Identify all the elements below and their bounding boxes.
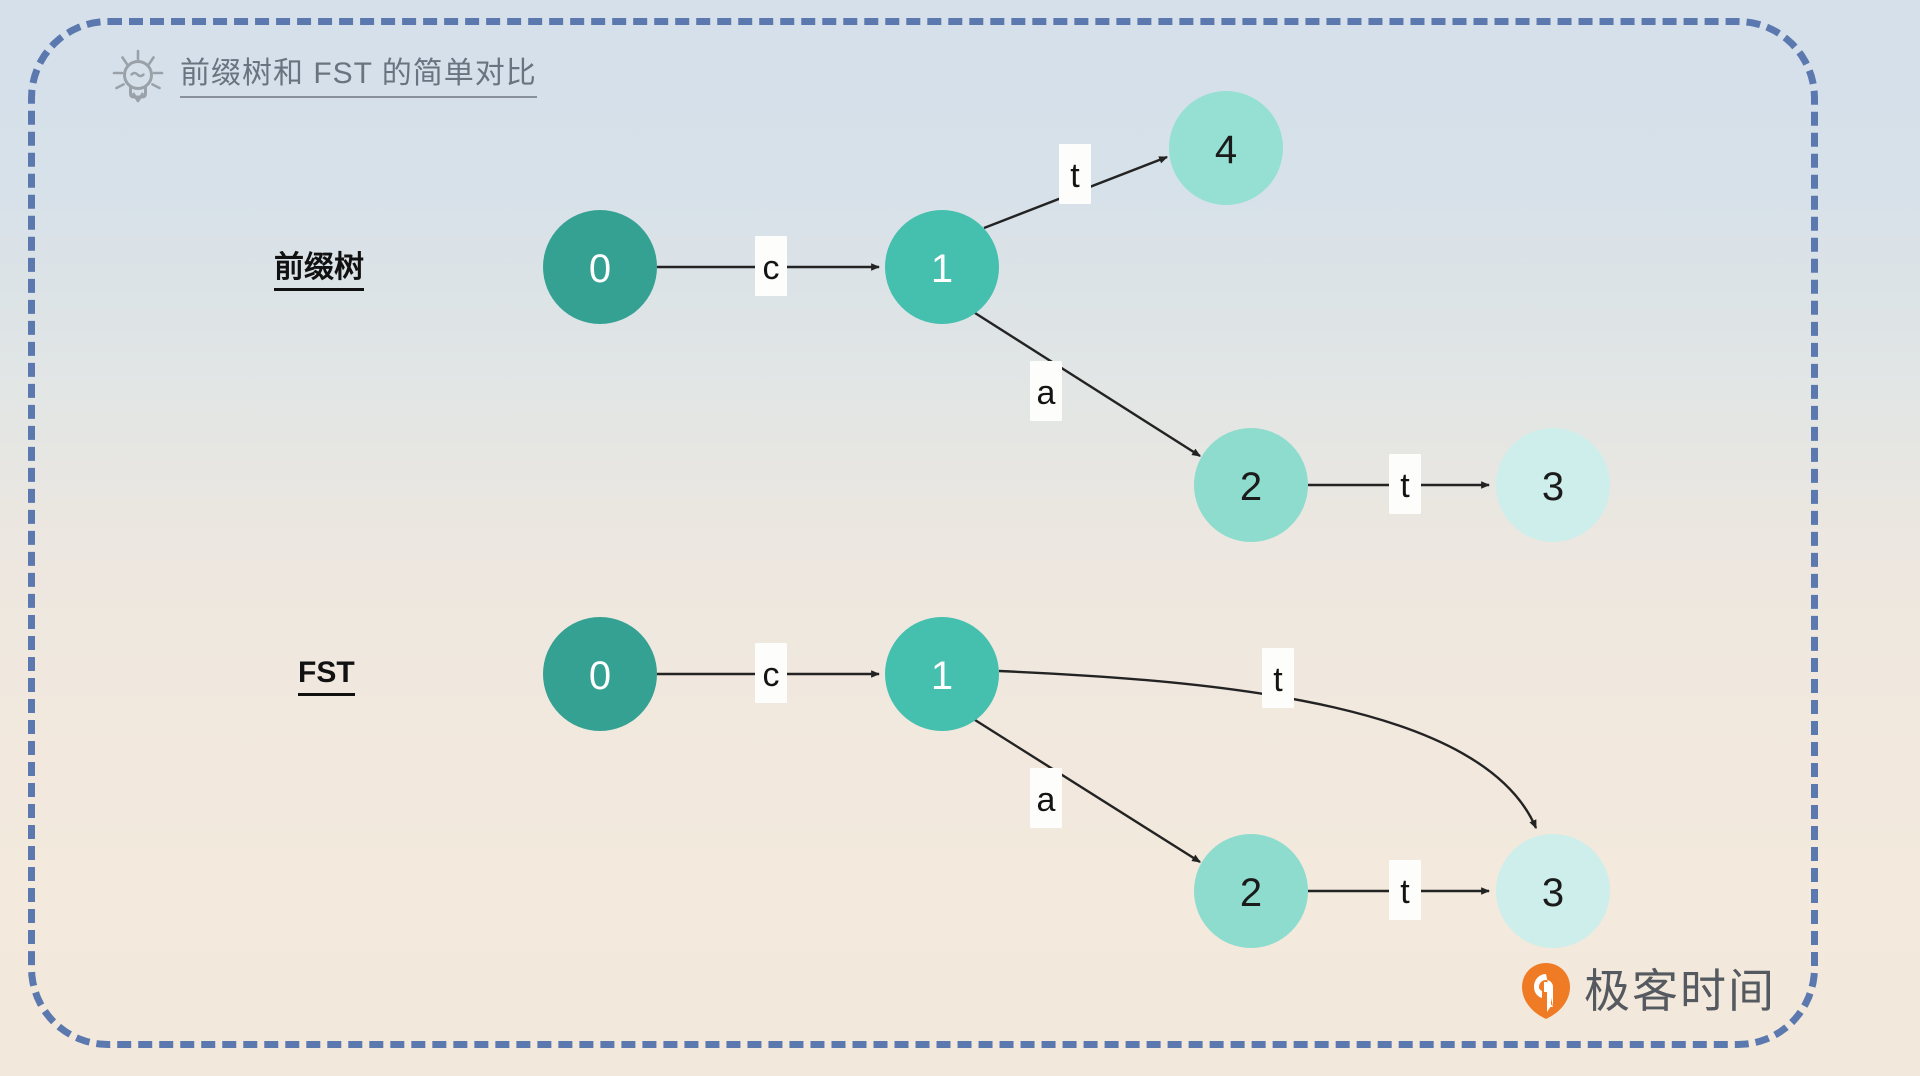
trie-node-3-label: 3 xyxy=(1542,465,1564,509)
diagram-canvas: 前缀树和 FST 的简单对比 前缀树 FST c xyxy=(0,0,1920,1076)
brand-logo-text: 极客时间 xyxy=(1584,968,1776,1014)
fst-node-0-label: 0 xyxy=(589,654,611,698)
trie-edge-label-a: a xyxy=(1030,361,1062,421)
fst-edge-label-t1-text: t xyxy=(1273,661,1283,699)
fst-edge-label-a-text: a xyxy=(1037,781,1056,819)
trie-node-0[interactable]: 0 xyxy=(543,210,657,324)
fst-edge-1-2 xyxy=(975,720,1200,862)
fst-node-1[interactable]: 1 xyxy=(885,617,999,731)
trie-edge-label-a-text: a xyxy=(1037,374,1056,412)
trie-edge-label-t1-text: t xyxy=(1070,157,1080,195)
fst-node-2-label: 2 xyxy=(1240,871,1262,915)
trie-node-1-label: 1 xyxy=(931,247,953,291)
fst-edge-label-t2-text: t xyxy=(1400,873,1410,911)
fst-node-2[interactable]: 2 xyxy=(1194,834,1308,948)
fst-edge-label-t1: t xyxy=(1262,648,1294,708)
trie-edge-label-t1: t xyxy=(1059,144,1091,204)
trie-edge-label-t2-text: t xyxy=(1400,467,1410,505)
trie-edge-labels: c t a t xyxy=(755,144,1421,514)
fst-edge-label-c-text: c xyxy=(763,656,780,694)
trie-graph: c t a t 0 xyxy=(543,91,1610,542)
fst-node-3[interactable]: 3 xyxy=(1496,834,1610,948)
trie-edge-1-2 xyxy=(975,313,1200,456)
trie-node-4[interactable]: 4 xyxy=(1169,91,1283,205)
fst-edge-label-c: c xyxy=(755,643,787,703)
graph-svg: c t a t 0 xyxy=(0,0,1920,1076)
fst-edge-labels: c t a t xyxy=(755,643,1421,920)
brand-logo: 极客时间 xyxy=(1520,962,1776,1020)
fst-node-1-label: 1 xyxy=(931,654,953,698)
fst-node-3-label: 3 xyxy=(1542,871,1564,915)
trie-node-3[interactable]: 3 xyxy=(1496,428,1610,542)
geektime-logo-icon xyxy=(1520,962,1572,1020)
fst-edge-label-t2: t xyxy=(1389,860,1421,920)
fst-graph: c t a t 0 xyxy=(543,617,1610,948)
trie-node-4-label: 4 xyxy=(1215,128,1237,172)
trie-edge-label-c: c xyxy=(755,236,787,296)
trie-node-1[interactable]: 1 xyxy=(885,210,999,324)
trie-edges xyxy=(657,157,1489,485)
trie-node-2[interactable]: 2 xyxy=(1194,428,1308,542)
trie-node-0-label: 0 xyxy=(589,247,611,291)
trie-edge-label-c-text: c xyxy=(763,249,780,287)
fst-edge-label-a: a xyxy=(1030,768,1062,828)
fst-node-0[interactable]: 0 xyxy=(543,617,657,731)
fst-edges xyxy=(657,671,1536,891)
trie-node-2-label: 2 xyxy=(1240,465,1262,509)
trie-edge-label-t2: t xyxy=(1389,454,1421,514)
